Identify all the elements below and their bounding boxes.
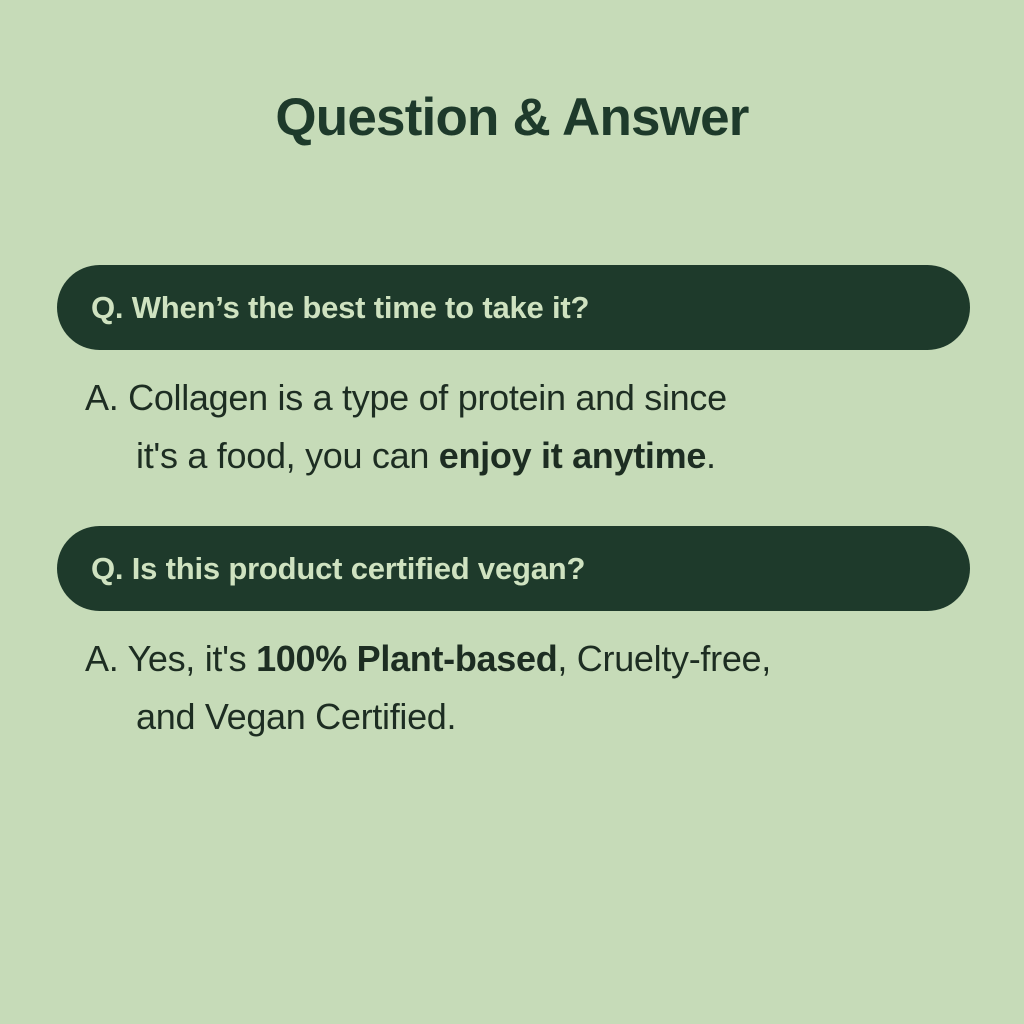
question-text: Q. When’s the best time to take it? [91,290,589,326]
answer-text: A. Yes, it's [85,638,256,679]
qa-item: Q. When’s the best time to take it?A. Co… [57,265,970,485]
answer-emphasis: enjoy it anytime [439,435,706,476]
answer-line: it's a food, you can enjoy it anytime. [85,427,1007,485]
answer-line: A. Collagen is a type of protein and sin… [85,369,1007,427]
answer-block: A. Collagen is a type of protein and sin… [57,350,1007,485]
qa-card: Question & Answer Q. When’s the best tim… [0,0,1024,1024]
question-pill[interactable]: Q. When’s the best time to take it? [57,265,970,350]
answer-text: it's a food, you can [136,435,439,476]
question-pill[interactable]: Q. Is this product certified vegan? [57,526,970,611]
answer-text: . [706,435,716,476]
answer-text: , Cruelty-free, [557,638,771,679]
answer-line: and Vegan Certified. [85,688,1007,746]
page-title: Question & Answer [0,86,1024,150]
answer-emphasis: 100% Plant-based [256,638,557,679]
qa-item: Q. Is this product certified vegan?A. Ye… [57,526,970,746]
qa-list: Q. When’s the best time to take it?A. Co… [57,265,970,746]
answer-text: and Vegan Certified. [136,696,456,737]
answer-line: A. Yes, it's 100% Plant-based, Cruelty-f… [85,630,1007,688]
answer-block: A. Yes, it's 100% Plant-based, Cruelty-f… [57,611,1007,746]
question-text: Q. Is this product certified vegan? [91,551,585,587]
answer-text: A. Collagen is a type of protein and sin… [85,377,727,418]
